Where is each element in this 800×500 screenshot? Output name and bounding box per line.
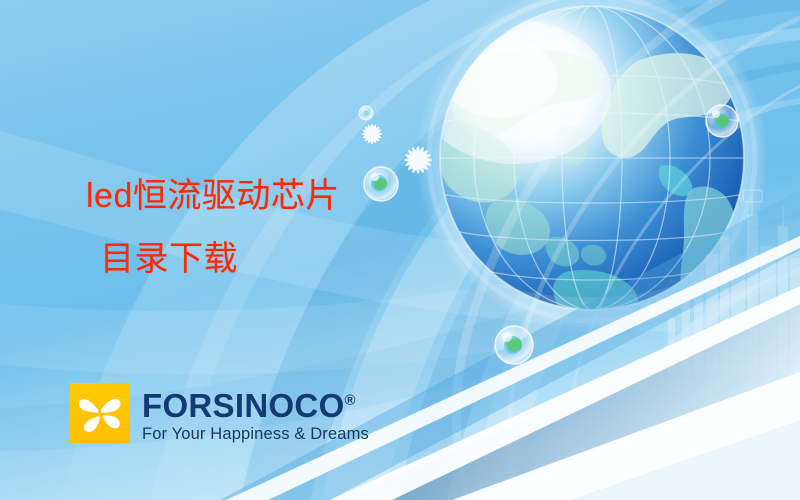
bubble-globe-lower — [495, 326, 533, 364]
sparkle-flower-a — [362, 124, 382, 144]
logo-name-text: FORSINOCO — [142, 387, 345, 424]
registered-mark-icon: ® — [345, 392, 356, 409]
bubble-globe-right — [706, 105, 738, 137]
bubble-small-top — [359, 106, 373, 120]
four-petal-pinwheel-icon — [70, 383, 130, 443]
logo-wordmark: FORSINOCO® For Your Happiness & Dreams — [142, 384, 369, 444]
slide-canvas: led恒流驱动芯片 目录下载 FORSINOCO® For Your Happi… — [0, 0, 800, 500]
logo-tagline: For Your Happiness & Dreams — [142, 424, 369, 444]
sparkle-flower-b — [404, 146, 432, 174]
brand-logo[interactable]: FORSINOCO® For Your Happiness & Dreams — [70, 383, 369, 444]
logo-company-name: FORSINOCO® — [142, 384, 369, 423]
bubble-globe-mid — [364, 167, 398, 201]
pinwheel-glyph — [70, 383, 130, 443]
